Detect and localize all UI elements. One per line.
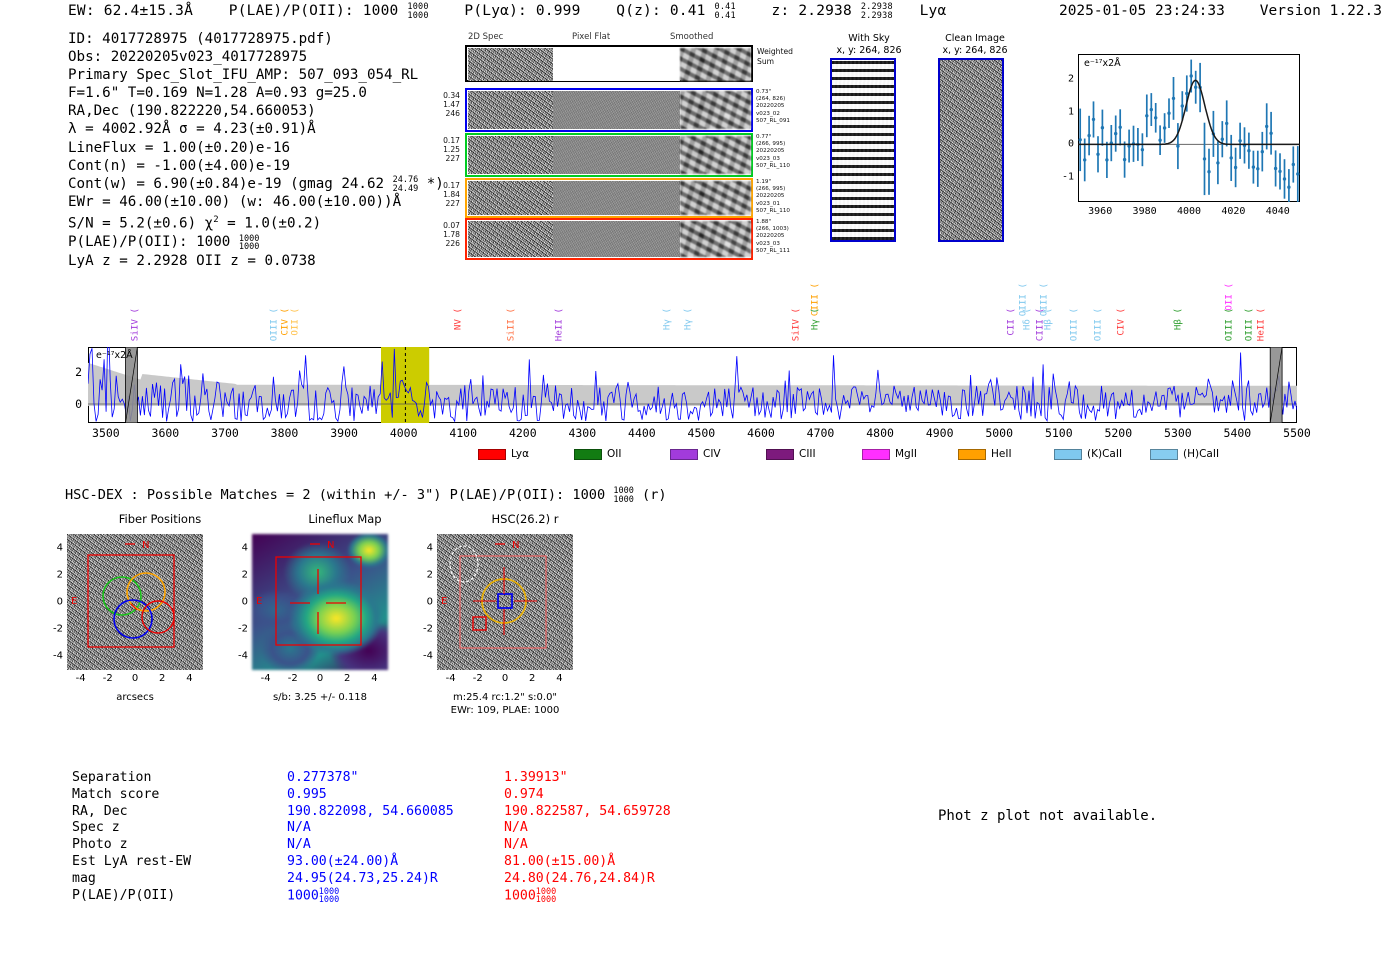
legend-item: Lyα <box>478 448 529 460</box>
version-label: Version 1.22.3 <box>1260 3 1382 19</box>
match-table-label: mag <box>72 871 272 888</box>
hsc-ytick: -4 <box>45 651 63 662</box>
hsc-xtick: 0 <box>502 673 508 684</box>
fullspec-xtick: 4900 <box>926 426 954 440</box>
emission-line-label: OIII ( <box>1038 283 1049 316</box>
emission-line-label: OIII ( <box>1069 308 1080 341</box>
match-table-label: Photo z <box>72 837 272 854</box>
header-z: z: 2.2938 <box>772 3 852 19</box>
fiber-row-stats: 0.341.47246 <box>420 91 460 118</box>
thumb-title-clean: Clean Imagex, y: 264, 826 <box>920 33 1030 56</box>
emission-line-label: SiIV ( <box>790 308 801 341</box>
match-table-label: Est LyA rest-EW <box>72 854 272 871</box>
caption-fiber-positions: arcsecs <box>67 692 203 705</box>
col-title-pixelflat: Pixel Flat <box>572 32 610 42</box>
match-table-value: 93.00(±24.00)Å <box>287 854 454 871</box>
fiber-positions-image[interactable]: N E <box>67 534 203 670</box>
fullspec-xtick: 4600 <box>747 426 775 440</box>
legend-label: (H)CaII <box>1183 448 1219 460</box>
hsc-ytick: 4 <box>230 542 248 553</box>
fullspec-xtick: 5200 <box>1104 426 1132 440</box>
hsc-ytick: 4 <box>45 542 63 553</box>
fiber-row[interactable] <box>465 218 753 260</box>
match-table-value: N/A <box>504 837 671 854</box>
legend-swatch <box>958 449 986 460</box>
emission-line-label: OIII ( <box>1244 308 1255 341</box>
caption-lineflux-map: s/b: 3.25 +/- 0.118 <box>252 692 388 705</box>
hsc-xtick: -4 <box>76 673 86 684</box>
fullspec-ytick: 0 <box>68 397 82 411</box>
emission-line-label: OIII ( <box>269 308 280 341</box>
linefit-xtick: 4000 <box>1177 206 1201 217</box>
match-table-value: 190.822587, 54.659728 <box>504 804 671 821</box>
info-redshifts: LyA z = 2.2928 OII z = 0.0738 <box>68 252 444 270</box>
match-table-col-2: 1.39913"0.974190.822587, 54.659728N/AN/A… <box>504 770 671 905</box>
emission-line-label: OII ( <box>1223 283 1234 311</box>
hsc-xtick: -2 <box>103 673 113 684</box>
source-info-block: ID: 4017728975 (4017728975.pdf) Obs: 202… <box>68 30 444 270</box>
info-cont-n: Cont(n) = -1.00(±4.00)e-19 <box>68 157 444 175</box>
legend-swatch <box>670 449 698 460</box>
header-plae-range: 10001000 <box>407 3 428 20</box>
info-cont-w: Cont(w) = 6.90(±0.84)e-19 (gmag 24.62 24… <box>68 175 444 194</box>
fullspec-xtick: 4800 <box>866 426 894 440</box>
match-table-value: N/A <box>287 837 454 854</box>
info-id: ID: 4017728975 (4017728975.pdf) <box>68 30 444 48</box>
hsc-xtick: -4 <box>261 673 271 684</box>
header-qz: Q(z): 0.41 <box>616 3 705 19</box>
hsc-plae-range: 10001000 <box>613 487 633 504</box>
legend-label: OII <box>607 448 621 460</box>
fullspec-units-label: e⁻¹⁷x2Å <box>96 350 133 361</box>
legend-swatch <box>478 449 506 460</box>
hsc-xtick: -4 <box>446 673 456 684</box>
fiber-row-stats: 0.171.25227 <box>420 136 460 163</box>
with-sky-image <box>830 58 896 242</box>
svg-text:E: E <box>71 596 77 607</box>
fiber-row-meta: 0.73"(264, 826)20220205v023_02507_RL_091 <box>756 89 818 125</box>
fullspec-xtick: 3800 <box>271 426 299 440</box>
hsc-dex-headline: HSC-DEX : Possible Matches = 2 (within +… <box>65 487 667 505</box>
emission-line-label: OIII ( <box>1223 308 1234 341</box>
plae-range: 10001000 <box>536 888 556 905</box>
legend-item: CIV <box>670 448 721 460</box>
timestamp: 2025-01-05 23:24:33 <box>1059 3 1225 19</box>
legend-label: (K)CaII <box>1087 448 1122 460</box>
clean-image <box>938 58 1004 242</box>
svg-text:N: N <box>512 540 519 551</box>
fullspec-xtick: 5100 <box>1045 426 1073 440</box>
legend-label: MgII <box>895 448 917 460</box>
legend-swatch <box>766 449 794 460</box>
match-table-label: Match score <box>72 787 272 804</box>
match-table-label: Spec z <box>72 820 272 837</box>
fullspec-xtick: 4100 <box>449 426 477 440</box>
fullspec-xtick: 4400 <box>628 426 656 440</box>
match-table-col-1: 0.277378"0.995190.822098, 54.660085N/AN/… <box>287 770 454 905</box>
fullspec-canvas <box>88 347 1297 423</box>
fiber-row-stats: 0.171.84227 <box>420 181 460 208</box>
svg-text:N: N <box>142 540 149 551</box>
match-table-value: 190.822098, 54.660085 <box>287 804 454 821</box>
header-summary-line: EW: 62.4±15.3Å P(LAE)/P(OII): 1000 10001… <box>68 3 946 21</box>
emission-line-label: CIII ( <box>809 283 820 316</box>
fullspec-xtick: 4200 <box>509 426 537 440</box>
hsc-ytick: 2 <box>415 569 433 580</box>
fullspec-xtick: 4300 <box>568 426 596 440</box>
hsc-r-image[interactable]: N E <box>437 534 573 670</box>
hsc-xtick: 4 <box>186 673 192 684</box>
info-obs: Obs: 20220205v023_4017728975 <box>68 48 444 66</box>
info-sn-chi2: S/N = 5.2(±0.6) χ2 = 1.0(±0.2) <box>68 211 444 233</box>
info-radec: RA,Dec (190.822220,54.660053) <box>68 102 444 120</box>
match-table-value: N/A <box>287 820 454 837</box>
fiber-row[interactable] <box>465 88 753 132</box>
col-title-smoothed: Smoothed <box>670 32 713 42</box>
hsc-xtick: 4 <box>556 673 562 684</box>
hsc-ytick: 0 <box>230 597 248 608</box>
linefit-xtick: 4020 <box>1221 206 1245 217</box>
emission-line-label: NV ( <box>452 308 463 330</box>
info-ewr: EWr = 46.00(±10.00) (w: 46.00(±10.00))Å <box>68 193 444 211</box>
hsc-ytick: 2 <box>230 569 248 580</box>
hsc-ytick: -4 <box>415 651 433 662</box>
hsc-xtick: 4 <box>371 673 377 684</box>
match-table-value: 100010001000 <box>287 888 454 905</box>
hsc-ytick: -4 <box>230 651 248 662</box>
emission-line-label: SiII ( <box>505 308 516 341</box>
hsc-ytick: 2 <box>45 569 63 580</box>
linefit-ytick: 1 <box>1060 106 1074 117</box>
hsc-xtick: 2 <box>344 673 350 684</box>
legend-item: (K)CaII <box>1054 448 1122 460</box>
fullspec-xtick: 3700 <box>211 426 239 440</box>
legend-label: Lyα <box>511 448 529 460</box>
hsc-xtick: -2 <box>288 673 298 684</box>
match-table-value: 0.277378" <box>287 770 454 787</box>
legend-swatch <box>1150 449 1178 460</box>
hsc-ytick: -2 <box>415 624 433 635</box>
emission-line-label: SiIV ( <box>129 308 140 341</box>
info-spec-slot: Primary Spec_Slot_IFU_AMP: 507_093_054_R… <box>68 66 444 84</box>
fiber-row-meta: 0.77"(266, 995)20220205v023_03507_RL_110 <box>756 134 818 170</box>
emission-line-label: OII ( <box>290 308 301 336</box>
fiber-row-stats: 0.071.78226 <box>420 221 460 248</box>
match-table-value: 81.00(±15.00)Å <box>504 854 671 871</box>
emission-line-label: CIV ( <box>1116 308 1127 336</box>
plae-range: 10001000 <box>319 888 339 905</box>
emission-line-label: OIII ( <box>1018 283 1029 316</box>
hsc-ytick: 0 <box>415 597 433 608</box>
fullspec-xtick: 3900 <box>330 426 358 440</box>
fullspec-xtick: 3500 <box>92 426 120 440</box>
legend-label: CIV <box>703 448 721 460</box>
info-plae: P(LAE)/P(OII): 1000 10001000 <box>68 233 444 252</box>
col-title-2dspec: 2D Spec <box>468 32 503 42</box>
fullspec-xtick: 4700 <box>807 426 835 440</box>
emission-line-legend: LyαOIICIVCIIIMgIIHeII(K)CaII(H)CaII <box>88 448 1297 464</box>
line-fit-plot: e⁻¹⁷x2Å 39603980400040204040 -1012 <box>1040 50 1302 235</box>
header-ew: EW: 62.4±15.3Å <box>68 3 193 19</box>
fiber-row-meta: 1.88"(266, 1003)20220205v023_03507_RL_11… <box>756 219 818 255</box>
emission-line-label: Hγ ( <box>683 308 694 330</box>
match-table-labels: SeparationMatch scoreRA, DecSpec zPhoto … <box>72 770 272 904</box>
header-species: Lyα <box>920 3 947 19</box>
fullspec-xtick: 5000 <box>985 426 1013 440</box>
legend-item: (H)CaII <box>1150 448 1219 460</box>
panel-title-hsc-r: HSC(26.2) r <box>450 512 600 526</box>
match-table-label: RA, Dec <box>72 804 272 821</box>
spec2d-mosaic: 2D Spec Pixel Flat Smoothed WeightedSum … <box>420 32 820 260</box>
emission-line-label: HeII ( <box>553 308 564 341</box>
hsc-xtick: 2 <box>529 673 535 684</box>
lineflux-map-image[interactable] <box>252 534 388 670</box>
hsc-ytick: 0 <box>45 597 63 608</box>
hsc-ytick: -2 <box>45 624 63 635</box>
match-table-value: N/A <box>504 820 671 837</box>
fullspec-ytick: 2 <box>68 365 82 379</box>
info-cont-w-range: 24.7624.49 <box>393 176 419 193</box>
match-table-value: 1.39913" <box>504 770 671 787</box>
hsc-xtick: -2 <box>473 673 483 684</box>
legend-label: CIII <box>799 448 816 460</box>
linefit-xtick: 3960 <box>1088 206 1112 217</box>
info-params: F=1.6" T=0.169 N=1.28 A=0.93 g=25.0 <box>68 84 444 102</box>
panel-title-fiber-positions: Fiber Positions <box>85 512 235 526</box>
linefit-ytick: -1 <box>1060 172 1074 183</box>
emission-line-label: Hβ ( <box>1172 308 1183 330</box>
fiber-row-meta: 1.19"(266, 995)20220205v023_01507_RL_110 <box>756 179 818 215</box>
linefit-ytick: 2 <box>1060 73 1074 84</box>
weighted-sum-row <box>465 45 753 82</box>
legend-label: HeII <box>991 448 1012 460</box>
legend-item: CIII <box>766 448 816 460</box>
match-table-label: Separation <box>72 770 272 787</box>
header-plae: P(LAE)/P(OII): 1000 <box>229 3 399 19</box>
match-table-value: 0.974 <box>504 787 671 804</box>
hsc-xtick: 0 <box>317 673 323 684</box>
emission-line-label: HeII ( <box>1256 308 1267 341</box>
info-lineflux: LineFlux = 1.00(±0.20)e-16 <box>68 139 444 157</box>
hsc-ytick: 4 <box>415 542 433 553</box>
linefit-canvas <box>1078 54 1300 202</box>
hsc-image-panels: Fiber Positions N E Lineflux Map N E HSC… <box>55 512 675 737</box>
legend-item: MgII <box>862 448 917 460</box>
fullspec-xtick: 5400 <box>1224 426 1252 440</box>
header-qz-range: 0.410.41 <box>715 3 736 20</box>
emission-line-label: CII ( <box>1005 308 1016 336</box>
fiber-row[interactable] <box>465 133 753 177</box>
fullspec-xtick: 4000 <box>390 426 418 440</box>
legend-item: HeII <box>958 448 1012 460</box>
weighted-sum-label: WeightedSum <box>757 47 817 66</box>
info-lambda-sigma: λ = 4002.92Å σ = 4.23(±0.91)Å <box>68 120 444 138</box>
fullspec-xtick: 4500 <box>688 426 716 440</box>
full-spectrum-section: SiIV (OIII (CIV (OII (NV (SiII (HeII (Hγ… <box>88 280 1297 470</box>
fullspec-xtick: 5300 <box>1164 426 1192 440</box>
linefit-ytick: 0 <box>1060 139 1074 150</box>
match-table-label: P(LAE)/P(OII) <box>72 888 272 905</box>
legend-swatch <box>574 449 602 460</box>
fullspec-xtick: 3600 <box>152 426 180 440</box>
caption-hsc-r: m:25.4 rc:1.2" s:0.0" EWr: 109, PLAE: 10… <box>427 692 583 717</box>
legend-item: OII <box>574 448 621 460</box>
thumb-title-with-sky: With Skyx, y: 264, 826 <box>823 33 915 56</box>
match-table-value: 24.80(24.76,24.84)R <box>504 871 671 888</box>
fullspec-xtick: 5500 <box>1283 426 1311 440</box>
match-table-value: 0.995 <box>287 787 454 804</box>
emission-line-label: CIV ( <box>279 308 290 336</box>
hsc-xtick: 2 <box>159 673 165 684</box>
legend-swatch <box>862 449 890 460</box>
hsc-ytick: -2 <box>230 624 248 635</box>
fiber-row[interactable] <box>465 178 753 218</box>
info-plae-range: 10001000 <box>239 235 259 252</box>
panel-title-lineflux-map: Lineflux Map <box>270 512 420 526</box>
linefit-xtick: 3980 <box>1133 206 1157 217</box>
photz-unavailable-message: Phot z plot not available. <box>938 808 1157 824</box>
match-table-value: 24.95(24.73,25.24)R <box>287 871 454 888</box>
svg-text:E: E <box>441 596 447 607</box>
header-timestamp-version: 2025-01-05 23:24:33 Version 1.22.3 <box>1059 3 1382 19</box>
match-table-value: 100010001000 <box>504 888 671 905</box>
header-z-range: 2.29382.2938 <box>861 3 893 20</box>
header-plya: P(Lyα): 0.999 <box>464 3 580 19</box>
emission-line-label: Hγ ( <box>661 308 672 330</box>
legend-swatch <box>1054 449 1082 460</box>
hsc-xtick: 0 <box>132 673 138 684</box>
emission-line-label: OIII ( <box>1093 308 1104 341</box>
linefit-xtick: 4040 <box>1266 206 1290 217</box>
